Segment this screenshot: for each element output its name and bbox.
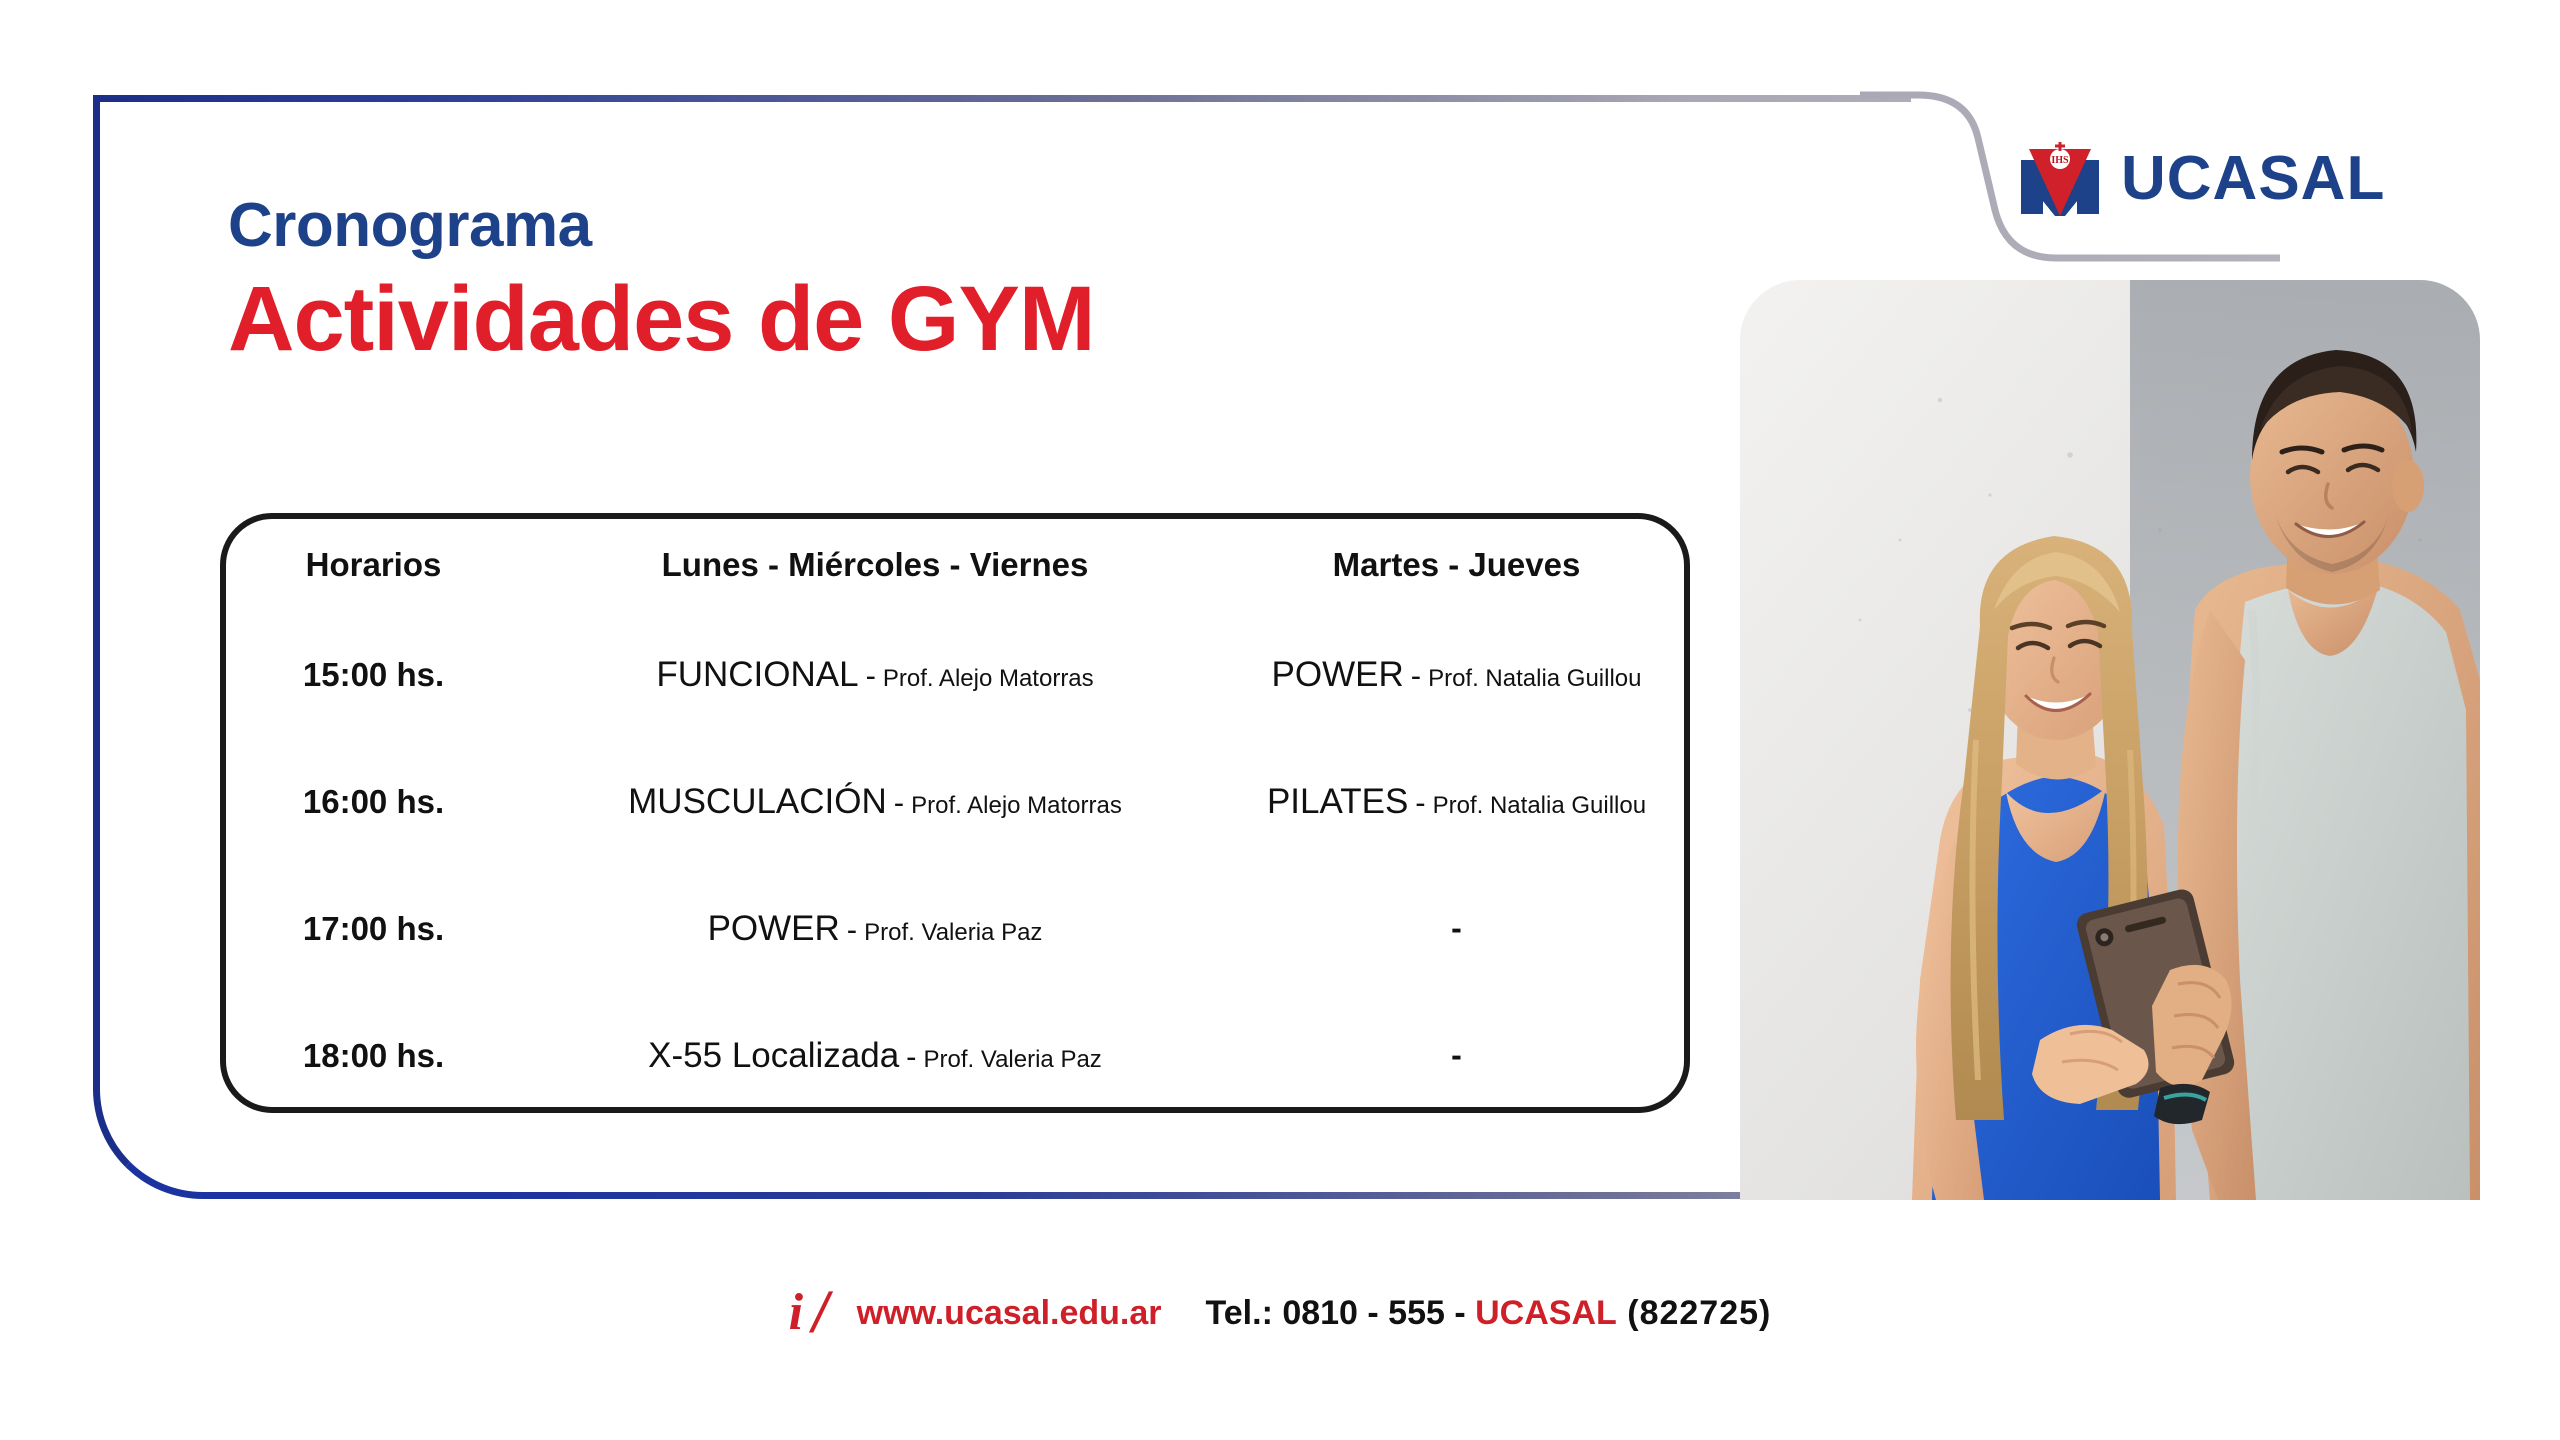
cell-activity-lmv: MUSCULACIÓN-Prof. Alejo Matorras: [521, 738, 1229, 865]
activity-separator: -: [887, 785, 911, 820]
card-frame-top-line: [96, 95, 1911, 102]
table-row: 17:00 hs. POWER-Prof. Valeria Paz -: [226, 865, 1684, 992]
cell-time: 18:00 hs.: [226, 992, 521, 1113]
activity-separator: -: [1408, 785, 1432, 820]
column-header-lunes-miercoles-viernes: Lunes - Miércoles - Viernes: [521, 519, 1229, 611]
activity-separator: -: [859, 658, 883, 693]
page-heading: Cronograma Actividades de GYM: [228, 195, 1094, 368]
activity-separator: -: [840, 912, 864, 947]
table-row: 18:00 hs. X-55 Localizada-Prof. Valeria …: [226, 992, 1684, 1113]
column-header-martes-jueves: Martes - Jueves: [1229, 519, 1684, 611]
activity-name: POWER: [1272, 655, 1404, 694]
tel-brand-word: UCASAL: [1475, 1294, 1617, 1332]
tel-label: Tel.: 0810 - 555 -: [1206, 1294, 1476, 1332]
ucasal-wordmark: UCASAL: [2121, 148, 2385, 210]
activity-separator: -: [1404, 658, 1428, 693]
table-row: 15:00 hs. FUNCIONAL-Prof. Alejo Matorras…: [226, 611, 1684, 738]
cell-time: 17:00 hs.: [226, 865, 521, 992]
activity-professor: Prof. Valeria Paz: [924, 1046, 1102, 1073]
footer-contact-bar: i / www.ucasal.edu.ar Tel.: 0810 - 555 -…: [0, 1285, 2560, 1341]
table-header-row: Horarios Lunes - Miércoles - Viernes Mar…: [226, 519, 1684, 611]
activity-professor: Prof. Valeria Paz: [864, 919, 1042, 946]
activity-professor: Prof. Natalia Guillou: [1428, 665, 1641, 692]
activity-name: MUSCULACIÓN: [628, 782, 887, 821]
cell-activity-mj-empty: -: [1229, 865, 1684, 992]
activity-name: FUNCIONAL: [656, 655, 858, 694]
hero-photo: [1740, 280, 2480, 1200]
table-row: 16:00 hs. MUSCULACIÓN-Prof. Alejo Matorr…: [226, 738, 1684, 865]
schedule-table: Horarios Lunes - Miércoles - Viernes Mar…: [220, 513, 1690, 1113]
activity-name: PILATES: [1267, 782, 1408, 821]
cell-time: 16:00 hs.: [226, 738, 521, 865]
cell-time: 15:00 hs.: [226, 611, 521, 738]
cell-activity-lmv: FUNCIONAL-Prof. Alejo Matorras: [521, 611, 1229, 738]
cell-activity-mj: POWER-Prof. Natalia Guillou: [1229, 611, 1684, 738]
cell-activity-lmv: POWER-Prof. Valeria Paz: [521, 865, 1229, 992]
activity-professor: Prof. Alejo Matorras: [911, 792, 1122, 819]
activity-name: POWER: [708, 909, 840, 948]
column-header-horarios: Horarios: [226, 519, 521, 611]
cell-activity-mj-empty: -: [1229, 992, 1684, 1113]
activity-professor: Prof. Alejo Matorras: [883, 665, 1094, 692]
ucasal-logo-mark-icon: IHS: [2017, 140, 2103, 218]
page-title: Actividades de GYM: [228, 271, 1094, 368]
activity-professor: Prof. Natalia Guillou: [1433, 792, 1646, 819]
heading-kicker: Cronograma: [228, 195, 1094, 257]
ucasal-logo-ihs-text: IHS: [2051, 155, 2069, 166]
cell-activity-mj: PILATES-Prof. Natalia Guillou: [1229, 738, 1684, 865]
activity-separator: -: [899, 1039, 923, 1074]
tel-digits: (822725): [1617, 1294, 1772, 1332]
ucasal-logo: IHS UCASAL: [2017, 140, 2385, 218]
cell-activity-lmv: X-55 Localizada-Prof. Valeria Paz: [521, 992, 1229, 1113]
telephone-text: Tel.: 0810 - 555 - UCASAL (822725): [1206, 1296, 1772, 1330]
website-link[interactable]: www.ucasal.edu.ar: [857, 1296, 1162, 1330]
activity-name: X-55 Localizada: [648, 1036, 899, 1075]
footer-separator-slash: /: [807, 1285, 834, 1341]
info-icon: i: [789, 1287, 803, 1339]
